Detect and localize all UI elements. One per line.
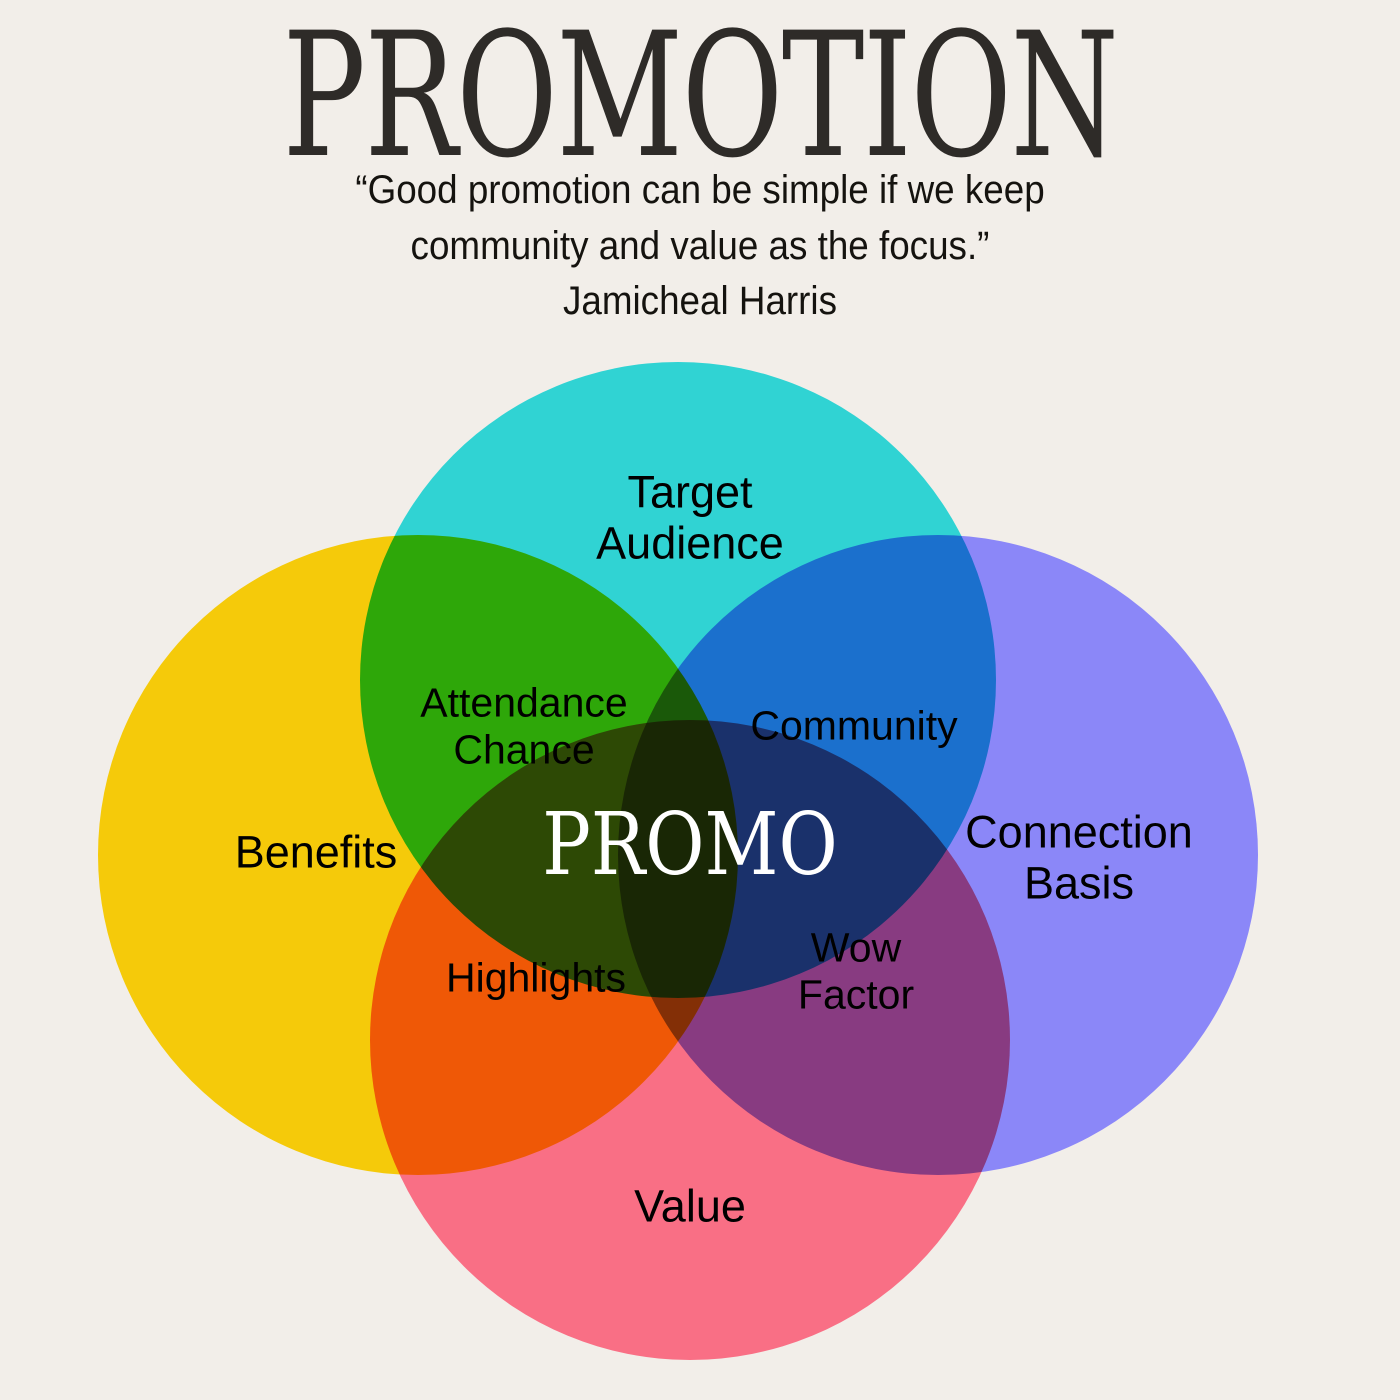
venn-label-community: Community <box>750 703 957 750</box>
venn-center-label: PROMO <box>542 802 837 888</box>
poster-header: PROMOTION “Good promotion can be simple … <box>0 0 1400 343</box>
venn-label-value: Value <box>634 1180 746 1231</box>
quote-block: “Good promotion can be simple if we keep… <box>0 163 1400 329</box>
venn-label-benefits: Benefits <box>235 826 398 877</box>
venn-label-wow-factor: Wow Factor <box>798 924 914 1017</box>
quote-line-2: community and value as the focus.” <box>56 219 1344 274</box>
venn-label-target-audience: Target Audience <box>596 467 784 570</box>
venn-label-highlights: Highlights <box>446 955 626 1002</box>
promotion-poster: PROMOTION “Good promotion can be simple … <box>0 0 1400 1400</box>
quote-author: Jamicheal Harris <box>56 274 1344 329</box>
page-title: PROMOTION <box>196 0 1204 177</box>
quote-line-1: “Good promotion can be simple if we keep <box>56 163 1344 218</box>
venn-label-attendance-chance: Attendance Chance <box>420 679 627 772</box>
venn-label-connection-basis: Connection Basis <box>965 807 1193 910</box>
